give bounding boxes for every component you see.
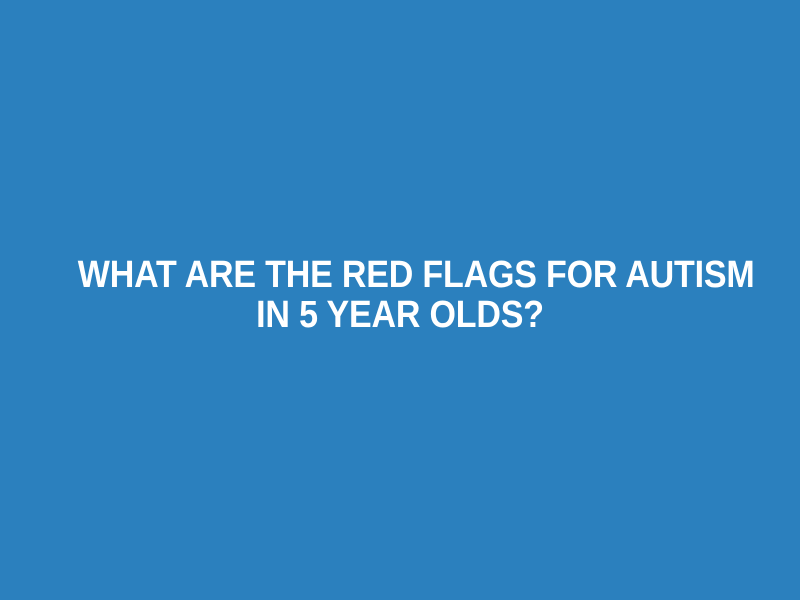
page-title-line-1: WHAT ARE THE RED FLAGS FOR AUTISM: [78, 255, 722, 295]
title-card: WHAT ARE THE RED FLAGS FOR AUTISM IN 5 Y…: [0, 0, 800, 600]
page-title-line-2: IN 5 YEAR OLDS?: [78, 295, 722, 335]
page-title: WHAT ARE THE RED FLAGS FOR AUTISM IN 5 Y…: [0, 0, 800, 595]
